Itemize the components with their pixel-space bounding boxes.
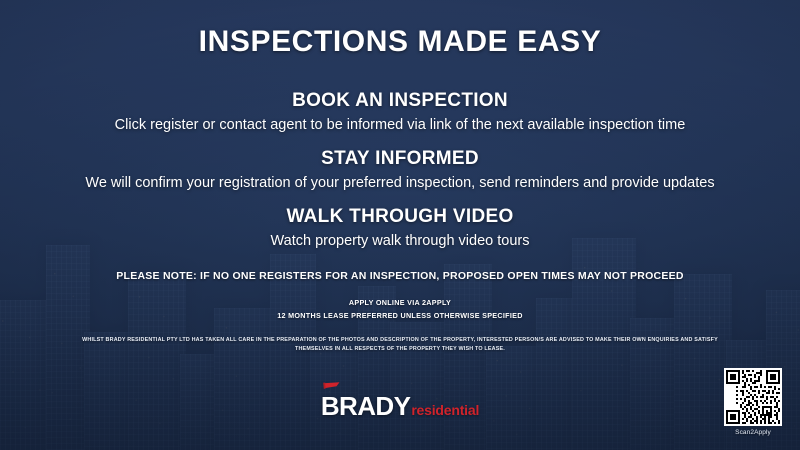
scan-to-apply-block[interactable]: Scan2Apply [724, 368, 782, 436]
please-note-text: PLEASE NOTE: IF NO ONE REGISTERS FOR AN … [0, 270, 800, 282]
slide-canvas: INSPECTIONS MADE EASY BOOK AN INSPECTION… [0, 0, 800, 450]
disclaimer-text: WHILST BRADY RESIDENTIAL PTY LTD HAS TAK… [80, 336, 720, 355]
section-heading: WALK THROUGH VIDEO [0, 206, 800, 228]
section-heading: BOOK AN INSPECTION [0, 90, 800, 112]
section-subtext: Click register or contact agent to be in… [0, 117, 800, 133]
section-stay-informed: STAY INFORMED We will confirm your regis… [0, 148, 800, 191]
qr-code-icon[interactable] [724, 368, 782, 426]
brady-residential-logo: BRADY residential [0, 389, 800, 423]
section-book-an-inspection: BOOK AN INSPECTION Click register or con… [0, 90, 800, 133]
logo-wordmark: BRADY [321, 391, 410, 422]
apply-info: APPLY ONLINE VIA 2APPLY 12 MONTHS LEASE … [0, 297, 800, 322]
section-subtext: Watch property walk through video tours [0, 233, 800, 249]
section-subtext: We will confirm your registration of you… [0, 175, 800, 191]
section-heading: STAY INFORMED [0, 148, 800, 170]
red-flag-mark-icon [323, 382, 340, 391]
page-title: INSPECTIONS MADE EASY [0, 25, 800, 59]
qr-caption: Scan2Apply [724, 429, 782, 436]
lease-term-line: 12 MONTHS LEASE PREFERRED UNLESS OTHERWI… [0, 310, 800, 323]
section-walk-through-video: WALK THROUGH VIDEO Watch property walk t… [0, 206, 800, 249]
apply-online-line: APPLY ONLINE VIA 2APPLY [0, 297, 800, 310]
logo-suffix: residential [411, 402, 479, 418]
